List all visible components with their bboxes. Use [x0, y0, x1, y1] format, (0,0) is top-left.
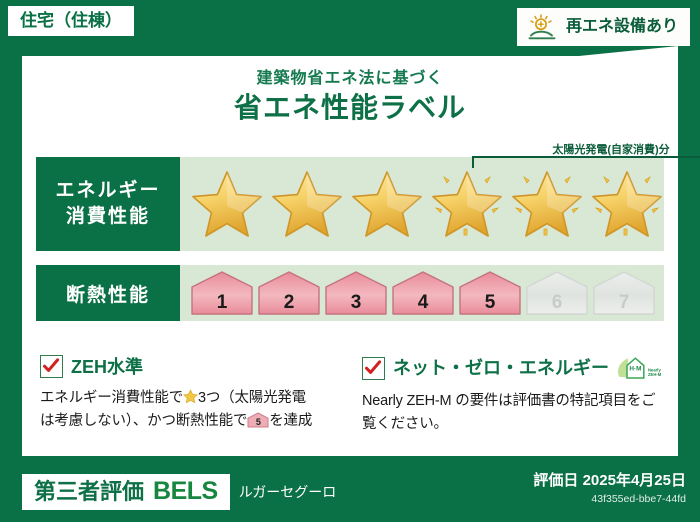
insulation-level-group: 1 2 3 4 5 [180, 265, 664, 321]
insulation-level-number: 5 [458, 293, 522, 312]
star-rating-group [180, 157, 664, 251]
zeh-desc-part1: エネルギー消費性能で [40, 390, 183, 406]
zeh-desc-star-label: 3つ（太陽光発電 [198, 390, 306, 406]
zeh-checkbox[interactable] [40, 355, 63, 378]
checkmark-icon [42, 357, 60, 375]
insulation-level-number: 7 [592, 293, 656, 312]
energy-row-header: エネルギー 消費性能 [36, 157, 180, 251]
energy-header-line2: 消費性能 [66, 204, 150, 230]
insulation-performance-row: 断熱性能 1 2 3 [36, 265, 664, 321]
zeh-title: ZEH水準 [71, 358, 143, 376]
star-icon-2 [268, 166, 346, 242]
star-icon-6 [588, 166, 666, 242]
zehm-logo-sub2: ZEH-M [648, 372, 661, 377]
bels-logo-text: BELS [153, 479, 218, 504]
footer: 第三者評価 BELS ルガーセグーロ 評価日 2025年4月25日 43f355… [0, 464, 700, 522]
energy-performance-label: 住宅（住棟） 再エネ設備あり 建築物省エネ法に基づく 省エネ性能ラベル エネルギ… [0, 0, 700, 522]
net-zero-checkbox[interactable] [362, 357, 385, 380]
insulation-level-number: 3 [324, 293, 388, 312]
insulation-level-6: 6 [525, 270, 589, 316]
energy-performance-row: エネルギー 消費性能 太陽光発電(自家消費)分 [36, 157, 664, 251]
star-icon-5 [508, 166, 586, 242]
net-zero-check-header: ネット・ゼロ・エネルギー H·M Nearly ZEH-M [362, 355, 662, 381]
insulation-row-body: 1 2 3 4 5 [180, 265, 664, 321]
label-subtitle: 建築物省エネ法に基づく [0, 64, 700, 88]
renewable-badge-label: 再エネ設備あり [566, 19, 678, 35]
third-party-eval-label: 第三者評価 [34, 481, 144, 503]
energy-header-line1: エネルギー [55, 178, 160, 204]
insulation-level-number: 4 [391, 293, 455, 312]
net-zero-description: Nearly ZEH-M の要件は評価書の特記項目をご覧ください。 [362, 390, 662, 436]
footer-right-group: 評価日 2025年4月25日 43f355ed-bbe7-44fd [533, 472, 686, 506]
zeh-description: エネルギー消費性能で3つ（太陽光発電 は考慮しない）、かつ断熱性能で5を達成 [40, 387, 330, 433]
star-icon-1 [188, 166, 266, 242]
zeh-desc-part3: を達成 [269, 413, 312, 429]
inline-star-icon [183, 389, 198, 404]
insulation-header-label: 断熱性能 [66, 280, 150, 307]
nearly-zehm-logo-icon: H·M Nearly ZEH-M [617, 355, 661, 381]
renewable-energy-badge: 再エネ設備あり [517, 8, 690, 46]
building-name: ルガーセグーロ [239, 485, 337, 499]
bels-certification-box: 第三者評価 BELS [22, 474, 230, 510]
insulation-level-number: 2 [257, 293, 321, 312]
inline-house-badge: 5 [247, 412, 269, 428]
evaluation-id: 43f355ed-bbe7-44fd [533, 493, 686, 506]
energy-row-body: 太陽光発電(自家消費)分 [180, 157, 664, 251]
insulation-level-5: 5 [458, 270, 522, 316]
star-icon-3 [348, 166, 426, 242]
insulation-level-number: 1 [190, 293, 254, 312]
checkmark-icon [364, 359, 382, 377]
net-zero-title: ネット・ゼロ・エネルギー [393, 359, 609, 377]
solar-annotation-label: 太陽光発電(自家消費)分 [472, 141, 700, 157]
star-icon-4 [428, 166, 506, 242]
evaluation-date: 評価日 2025年4月25日 [533, 472, 686, 490]
building-type-tag: 住宅（住棟） [8, 6, 134, 36]
insulation-level-1: 1 [190, 270, 254, 316]
insulation-row-header: 断熱性能 [36, 265, 180, 321]
zeh-desc-part2: は考慮しない）、かつ断熱性能で [40, 413, 247, 429]
sun-solar-icon [527, 14, 557, 40]
insulation-level-3: 3 [324, 270, 388, 316]
insulation-level-number: 6 [525, 293, 589, 312]
label-main-title: 省エネ性能ラベル [0, 86, 700, 126]
zehm-logo-main-text: H·M [629, 365, 641, 372]
zeh-check-header: ZEH水準 [40, 355, 330, 378]
zeh-standard-section: ZEH水準 エネルギー消費性能で3つ（太陽光発電 は考慮しない）、かつ断熱性能で… [40, 355, 330, 433]
inline-house-number: 5 [247, 418, 269, 427]
insulation-level-7: 7 [592, 270, 656, 316]
insulation-level-2: 2 [257, 270, 321, 316]
footer-left-group: 第三者評価 BELS ルガーセグーロ [22, 474, 336, 510]
insulation-level-4: 4 [391, 270, 455, 316]
net-zero-energy-section: ネット・ゼロ・エネルギー H·M Nearly ZEH-M Nearly ZEH… [362, 355, 662, 436]
